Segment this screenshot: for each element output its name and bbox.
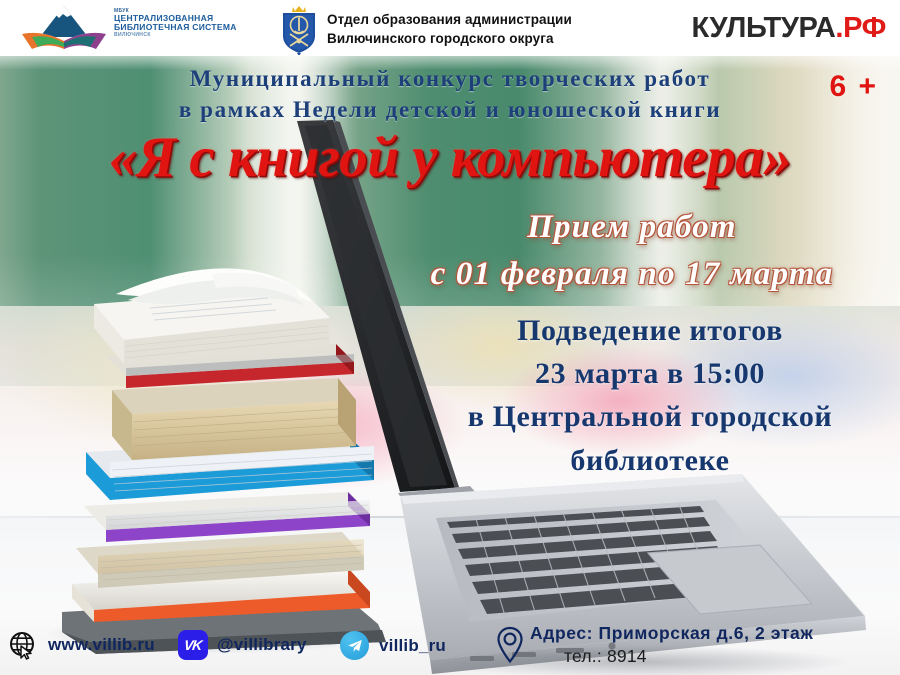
poster-subtitle-line2: в рамках Недели детской и юношеской книг… (90, 95, 810, 126)
poster-text-layer: Муниципальный конкурс творческих работ в… (0, 56, 900, 675)
contact-bar: www.villib.ru VK @villibrary villib_ru (0, 619, 900, 675)
telegram-contact[interactable]: villib_ru (340, 631, 446, 660)
website-contact[interactable]: www.villib.ru (8, 630, 155, 660)
results-line2: 23 марта в 15:00 (400, 352, 900, 395)
header-bar: МБУК ЦЕНТРАЛИЗОВАННАЯ БИБЛИОТЕЧНАЯ СИСТЕ… (0, 0, 900, 56)
results-announcement: Подведение итогов 23 марта в 15:00 в Цен… (400, 309, 900, 482)
submission-period: Прием работ с 01 февраля по 17 марта (372, 204, 892, 298)
department-line2: Вилючинского городского округа (327, 29, 572, 48)
library-logo-line3: БИБЛИОТЕЧНАЯ СИСТЕМА (114, 23, 237, 32)
address-line1: Адрес: Приморская д.6, 2 этаж (530, 623, 898, 644)
map-pin-icon (496, 626, 524, 664)
library-logo-text: МБУК ЦЕНТРАЛИЗОВАННАЯ БИБЛИОТЕЧНАЯ СИСТЕ… (114, 9, 237, 38)
submission-period-line1: Прием работ (527, 209, 737, 245)
department-line1: Отдел образования администрации (327, 10, 572, 29)
vk-label[interactable]: @villibrary (217, 635, 307, 655)
globe-cursor-icon (8, 630, 38, 660)
address-contact: Адрес: Приморская д.6, 2 этаж тел.: 8914 (530, 623, 898, 667)
library-logo-line4: ВИЛЮЧИНСК (114, 33, 237, 38)
telegram-label[interactable]: villib_ru (379, 636, 446, 656)
results-line1: Подведение итогов (400, 309, 900, 352)
department-name: Отдел образования администрации Вилючинс… (327, 10, 572, 48)
vk-icon[interactable]: VK (178, 630, 208, 660)
kultura-name: КУЛЬТУРА (692, 12, 836, 44)
poster-subtitle-line1: Муниципальный конкурс творческих работ (90, 64, 810, 95)
kultura-domain: .РФ (835, 12, 886, 44)
paper-plane-icon (346, 637, 364, 655)
results-line3: в Центральной городской (400, 395, 900, 438)
telegram-icon[interactable] (340, 631, 369, 660)
library-logo: МБУК ЦЕНТРАЛИЗОВАННАЯ БИБЛИОТЕЧНАЯ СИСТЕ… (18, 2, 268, 54)
results-line4: библиотеке (400, 439, 900, 482)
kultura-rf-logo: КУЛЬТУРА.РФ (692, 12, 887, 45)
website-label[interactable]: www.villib.ru (48, 635, 155, 655)
poster-title: «Я с книгой у компьютера» (12, 125, 888, 190)
vilyuchinsk-coat-of-arms-icon (277, 3, 321, 55)
age-rating-badge: 6 + (829, 70, 878, 104)
poster-canvas: Муниципальный конкурс творческих работ в… (0, 56, 900, 675)
vk-contact[interactable]: VK @villibrary (178, 630, 307, 660)
poster-root: МБУК ЦЕНТРАЛИЗОВАННАЯ БИБЛИОТЕЧНАЯ СИСТЕ… (0, 0, 900, 675)
submission-period-line2: с 01 февраля по 17 марта (372, 251, 892, 298)
poster-subtitle: Муниципальный конкурс творческих работ в… (90, 64, 810, 125)
address-phone: тел.: 8914 (530, 646, 898, 667)
mountain-book-logo-icon (18, 3, 110, 53)
vk-mark: VK (183, 637, 202, 653)
